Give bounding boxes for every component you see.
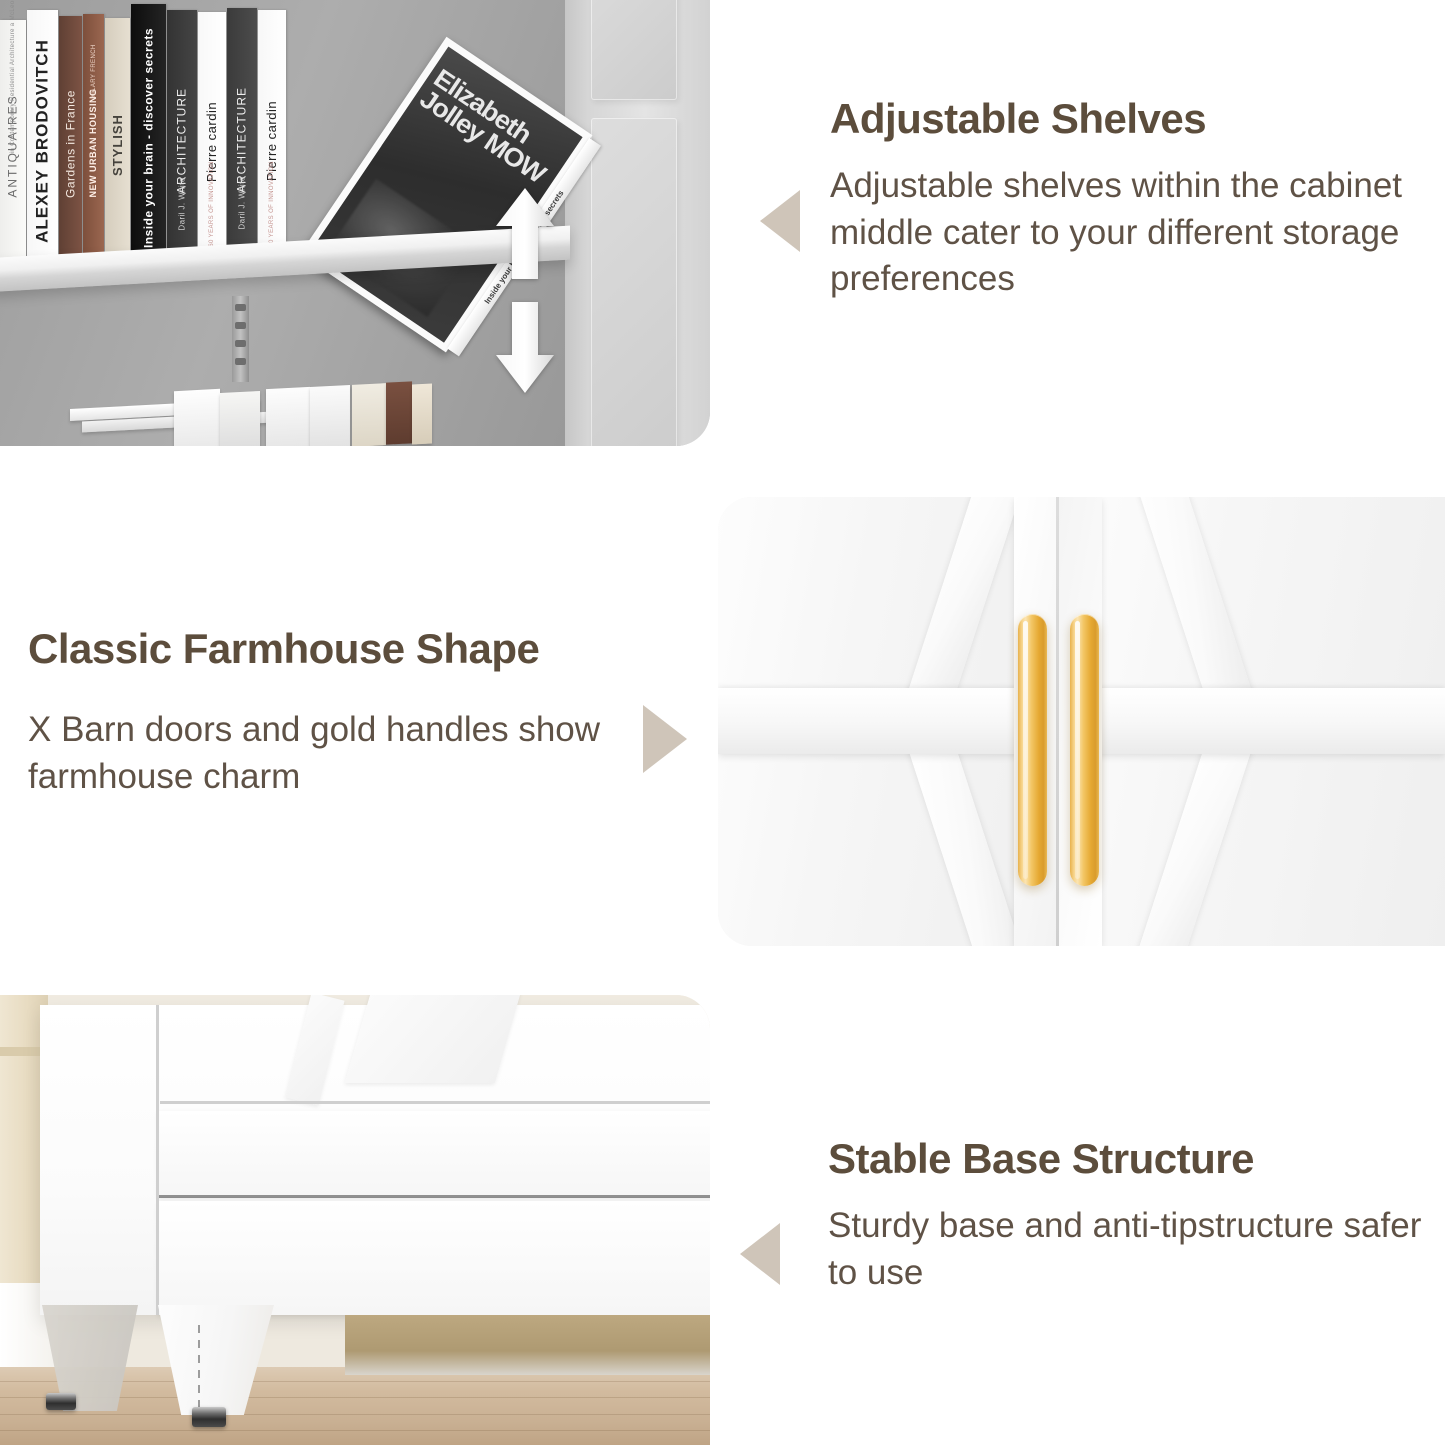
book-spine: ARCHITECTURE Daril J. White — [167, 10, 197, 272]
door-x-notch — [285, 995, 344, 1106]
book-title: ALEXEY BRODOVITCH — [33, 39, 52, 243]
book-title: NEW URBAN HOUSING — [89, 89, 99, 198]
cabinet-door-right — [1058, 497, 1445, 946]
shelf-peg-strip — [232, 296, 249, 382]
feature-body: Adjustable shelves within the cabinet mi… — [830, 163, 1442, 303]
book-spine: Gardens in France — [59, 16, 82, 272]
book-title: STYLISH — [110, 114, 124, 176]
door-center-gap — [1056, 497, 1059, 946]
flat-book — [220, 391, 260, 446]
book-spine: Inside your brain - discover secrets — [131, 4, 166, 272]
flat-book — [174, 389, 220, 446]
toe-kick-shadow — [345, 1315, 710, 1375]
book-subtitle: 60 YEARS OF INNOVATION — [209, 162, 215, 248]
feature-title: Classic Farmhouse Shape — [28, 625, 539, 673]
cabinet-door-left — [718, 497, 1056, 946]
book-subtitle: 60 YEARS OF INNOVATION — [269, 161, 275, 247]
book-spine: ARCHITECTURE Daril J. White — [227, 8, 257, 272]
flat-book — [352, 383, 386, 446]
flat-book — [310, 385, 350, 446]
door-x-notch — [345, 995, 521, 1083]
gold-handle-right[interactable] — [1070, 614, 1099, 886]
book-spine: Pierre cardin 60 YEARS OF INNOVATION — [198, 12, 226, 272]
gold-handle-left[interactable] — [1018, 614, 1047, 886]
arrow-up-icon — [494, 186, 556, 281]
book-spine: ALEXEY BRODOVITCH — [27, 10, 58, 272]
cabinet-seam — [160, 1101, 710, 1104]
feature-title: Adjustable Shelves — [830, 95, 1206, 143]
classic-farmhouse-shape-photo — [718, 497, 1445, 946]
drawer-face — [158, 1111, 710, 1197]
book-spine: ANTIQUAIRES in Contemporary Residential … — [0, 20, 26, 272]
door-horizontal-band — [1058, 688, 1445, 754]
book-title: Inside your brain - discover secrets — [142, 28, 155, 248]
book-subtitle: in Contemporary Residential Architecture… — [10, 0, 16, 154]
book-title: Gardens in France — [64, 90, 77, 198]
leveling-foot-front — [192, 1407, 226, 1427]
stable-base-structure-photo — [0, 995, 710, 1445]
feature-title: Stable Base Structure — [828, 1135, 1254, 1183]
triangle-left-icon — [760, 190, 800, 252]
book-subtitle: Daril J. White — [238, 177, 247, 230]
cabinet-vertical-seam — [156, 1005, 159, 1315]
feature-body: Sturdy base and anti-tipstructure safer … — [828, 1203, 1440, 1296]
cabinet-seam — [158, 1195, 710, 1198]
cabinet-front-body — [40, 1005, 710, 1315]
book-spine: NEW URBAN HOUSING HILARY FRENCH — [83, 14, 104, 272]
drawer-face — [158, 1201, 710, 1315]
cabinet-frame-panel — [591, 118, 677, 446]
feature-body: X Barn doors and gold handles show farmh… — [28, 707, 648, 800]
book-spine: Pierre cardin 60 YEARS OF INNOVATION — [258, 10, 286, 272]
leg-seam-line — [198, 1325, 200, 1407]
flat-book — [412, 383, 432, 444]
flat-book — [386, 381, 412, 444]
triangle-left-icon — [740, 1223, 780, 1285]
triangle-right-icon — [643, 705, 687, 773]
arrow-down-icon — [494, 300, 556, 395]
leveling-foot-back — [46, 1393, 76, 1410]
door-horizontal-band — [718, 688, 1056, 754]
book-spine: STYLISH — [105, 18, 130, 272]
book-subtitle: HILARY FRENCH — [91, 44, 97, 97]
flat-book — [266, 387, 310, 446]
book-subtitle: Daril J. White — [178, 177, 187, 230]
adjustable-shelves-photo: ANTIQUAIRES in Contemporary Residential … — [0, 0, 710, 446]
